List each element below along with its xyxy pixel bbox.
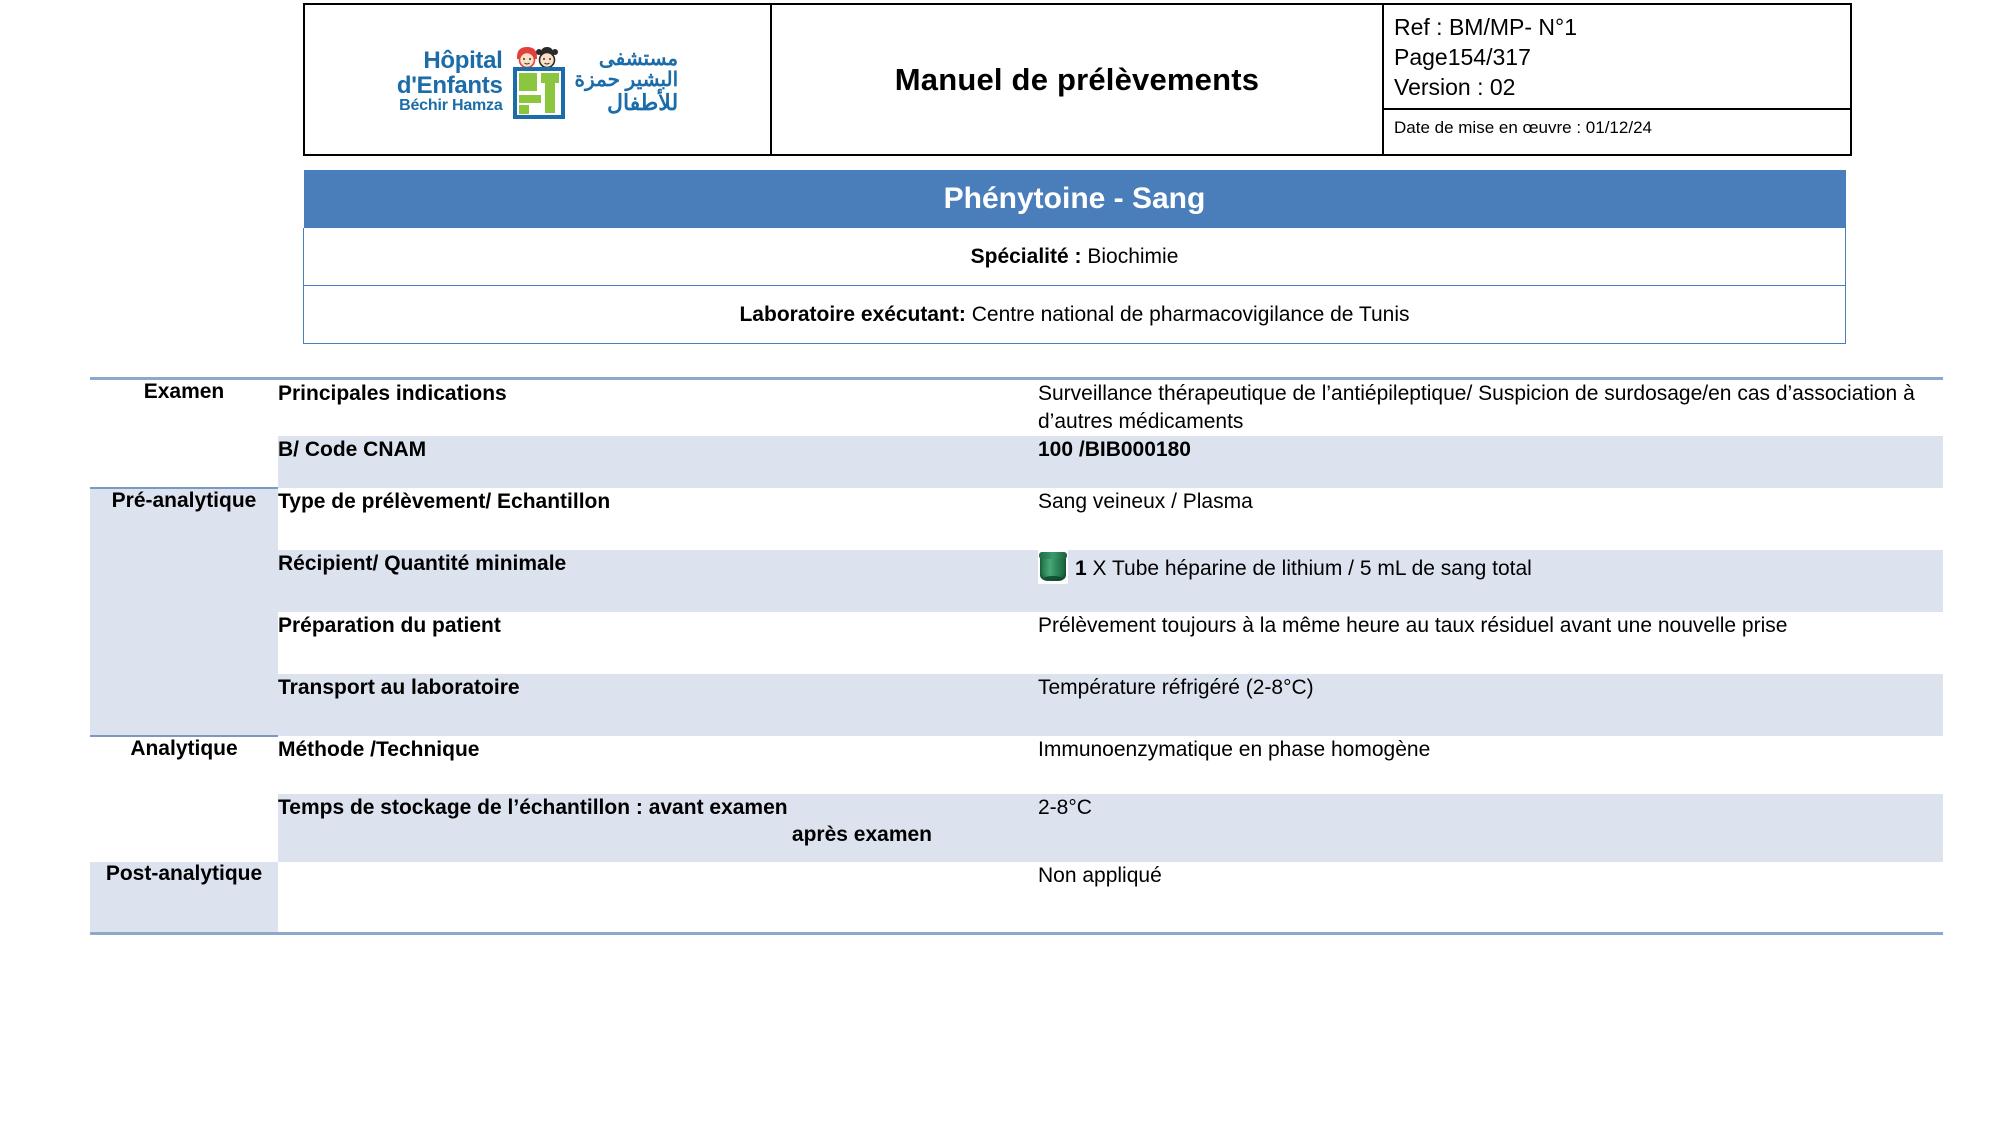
exam-title-table: Phénytoine - Sang Spécialité : Biochimie… <box>303 170 1846 344</box>
logo-french-text: Hôpital d'Enfants Béchir Hamza <box>397 49 503 114</box>
row-value-temps-stockage: 2-8°C <box>1038 794 1943 862</box>
table-row: Transport au laboratoire Température réf… <box>90 674 1943 736</box>
temps-stockage-line2: après examen <box>278 821 1038 848</box>
lab-label: Laboratoire exécutant: <box>739 303 965 326</box>
category-examen: Examen <box>90 380 278 488</box>
row-label-temps-stockage: Temps de stockage de l’échantillon : ava… <box>278 794 1038 862</box>
table-row: B/ Code CNAM 100 /BIB000180 <box>90 436 1943 488</box>
row-label-principales-indications: Principales indications <box>278 380 1038 436</box>
logo-arabic-line-1: مستشفى <box>575 49 679 70</box>
table-bottom-rule <box>90 933 1943 935</box>
logo-arabic-line-2: البشير حمزة <box>575 70 679 91</box>
row-label-preparation-patient: Préparation du patient <box>278 612 1038 674</box>
table-row: Pré-analytique Type de prélèvement/ Echa… <box>90 488 1943 550</box>
document-version: Version : 02 <box>1394 72 1850 102</box>
row-value-type-prelevement: Sang veineux / Plasma <box>1038 488 1943 550</box>
row-value-transport: Température réfrigéré (2-8°C) <box>1038 674 1943 736</box>
table-row: Post-analytique Non appliqué <box>90 862 1943 934</box>
logo-mark-icon <box>509 43 569 121</box>
logo-arabic-line-3: للأطفال <box>575 91 679 114</box>
document-date-block: Date de mise en œuvre : 01/12/24 <box>1384 110 1850 154</box>
table-row: Examen Principales indications Surveilla… <box>90 380 1943 436</box>
table-row: Préparation du patient Prélèvement toujo… <box>90 612 1943 674</box>
exam-lab-row: Laboratoire exécutant: Centre national d… <box>304 286 1846 344</box>
logo-line-bechir-hamza: Béchir Hamza <box>397 98 503 114</box>
row-label-transport: Transport au laboratoire <box>278 674 1038 736</box>
row-label-methode: Méthode /Technique <box>278 736 1038 794</box>
specialty-value: Biochimie <box>1087 245 1178 268</box>
hospital-logo: Hôpital d'Enfants Béchir Hamza <box>397 43 678 121</box>
document-meta-cell: Ref : BM/MP- N°1 Page154/317 Version : 0… <box>1383 4 1851 155</box>
document-ref: Ref : BM/MP- N°1 <box>1394 12 1850 42</box>
exam-title-band: Phénytoine - Sang <box>304 170 1846 228</box>
lab-value: Centre national de pharmacovigilance de … <box>972 303 1410 326</box>
exam-details-table: Examen Principales indications Surveilla… <box>90 377 1943 935</box>
logo-line-hopital: Hôpital <box>397 49 503 73</box>
hospital-children-cross-icon <box>509 43 569 121</box>
row-label-code-cnam: B/ Code CNAM <box>278 436 1038 488</box>
row-label-recipient: Récipient/ Quantité minimale <box>278 550 1038 612</box>
document-header-table: Hôpital d'Enfants Béchir Hamza <box>303 3 1852 156</box>
row-value-methode: Immunoenzymatique en phase homogène <box>1038 736 1943 794</box>
hospital-logo-cell: Hôpital d'Enfants Béchir Hamza <box>304 4 771 155</box>
document-title-cell: Manuel de prélèvements <box>771 4 1383 155</box>
table-row: Temps de stockage de l’échantillon : ava… <box>90 794 1943 862</box>
document-page: Page154/317 <box>1394 42 1850 72</box>
document-effective-date: Date de mise en œuvre : 01/12/24 <box>1394 118 1850 138</box>
document-ref-block: Ref : BM/MP- N°1 Page154/317 Version : 0… <box>1384 5 1850 110</box>
row-label-post-analytique <box>278 862 1038 934</box>
temps-stockage-line1: Temps de stockage de l’échantillon : ava… <box>278 796 788 819</box>
row-value-principales-indications: Surveillance thérapeutique de l’antiépil… <box>1038 380 1943 436</box>
logo-line-denfants: d'Enfants <box>397 74 503 98</box>
row-value-code-cnam: 100 /BIB000180 <box>1038 436 1943 488</box>
row-value-post-analytique: Non appliqué <box>1038 862 1943 934</box>
category-analytique: Analytique <box>90 736 278 862</box>
blood-collection-tube-icon <box>1038 550 1068 584</box>
exam-specialty-row: Spécialité : Biochimie <box>304 228 1846 286</box>
category-post-analytique: Post-analytique <box>90 862 278 934</box>
table-row: Analytique Méthode /Technique Immunoenzy… <box>90 736 1943 794</box>
tube-count: 1 <box>1075 557 1087 580</box>
logo-arabic-text: مستشفى البشير حمزة للأطفال <box>575 49 679 114</box>
row-value-preparation-patient: Prélèvement toujours à la même heure au … <box>1038 612 1943 674</box>
table-row: Récipient/ Quantité minimale 1 X Tube hé… <box>90 550 1943 612</box>
category-pre-analytique: Pré-analytique <box>90 488 278 736</box>
tube-description: X Tube héparine de lithium / 5 mL de san… <box>1087 557 1532 580</box>
document-title: Manuel de prélèvements <box>772 62 1382 98</box>
row-value-recipient: 1 X Tube héparine de lithium / 5 mL de s… <box>1038 550 1943 612</box>
row-label-type-prelevement: Type de prélèvement/ Echantillon <box>278 488 1038 550</box>
specialty-label: Spécialité : <box>971 245 1082 268</box>
